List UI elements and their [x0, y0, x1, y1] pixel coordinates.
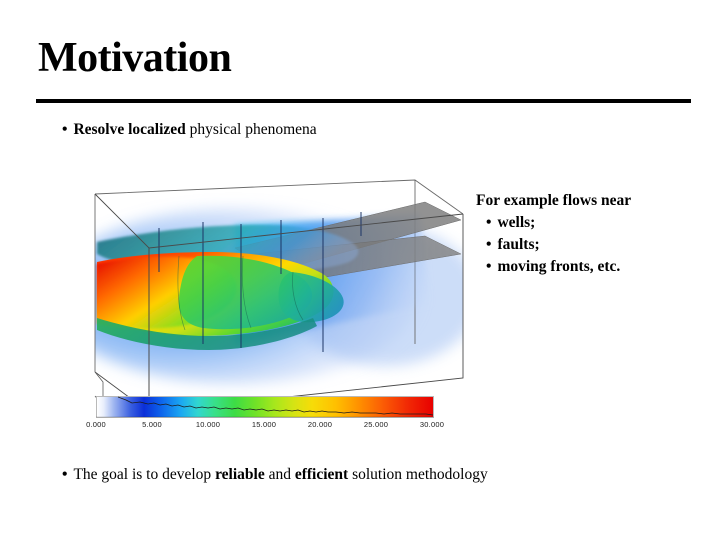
page-title: Motivation	[38, 36, 231, 80]
title-divider	[36, 99, 691, 103]
caption-item-label: moving fronts, etc.	[497, 258, 620, 275]
caption-examples: For example flows near •wells; •faults; …	[476, 190, 631, 278]
caption-item-wells: •wells;	[476, 212, 631, 234]
colorbar-tick: 25.000	[356, 420, 396, 429]
bullet-bottom-tail: solution methodology	[348, 466, 488, 483]
colorbar-tick: 30.000	[412, 420, 452, 429]
bullet-marker-icon: •	[62, 466, 67, 483]
colorbar-gradient	[96, 396, 434, 418]
colorbar-tick: 5.000	[132, 420, 172, 429]
caption-item-moving-fronts: •moving fronts, etc.	[476, 256, 631, 278]
bullet-top-rest: physical phenomena	[186, 121, 317, 138]
bullet-marker-icon: •	[486, 258, 491, 275]
bullet-top-bold: Resolve localized	[73, 121, 185, 138]
bullet-goal-statement: •The goal is to develop reliable and eff…	[62, 465, 488, 484]
colorbar-tick: 10.000	[188, 420, 228, 429]
caption-item-faults: •faults;	[476, 234, 631, 256]
caption-item-label: wells;	[497, 214, 535, 231]
colorbar-tick-labels: 0.000 5.000 10.000 15.000 20.000 25.000 …	[82, 420, 448, 434]
bullet-marker-icon: •	[486, 214, 491, 231]
colorbar-tick: 0.000	[76, 420, 116, 429]
caption-item-label: faults;	[497, 236, 539, 253]
bullet-bottom-lead: The goal is to develop	[73, 466, 215, 483]
colorbar-group: 0.000 5.000 10.000 15.000 20.000 25.000 …	[96, 396, 434, 436]
bullet-bottom-mid: and	[265, 466, 295, 483]
bullet-marker-icon: •	[62, 121, 67, 138]
bullet-marker-icon: •	[486, 236, 491, 253]
colorbar-tick: 20.000	[300, 420, 340, 429]
colorbar-tick: 15.000	[244, 420, 284, 429]
bullet-bottom-emph2: efficient	[295, 466, 348, 483]
bullet-bottom-emph1: reliable	[215, 466, 265, 483]
caption-heading: For example flows near	[476, 190, 631, 212]
bullet-resolve-localized: •Resolve localized physical phenomena	[62, 120, 317, 139]
slide-canvas: Motivation •Resolve localized physical p…	[0, 0, 720, 540]
